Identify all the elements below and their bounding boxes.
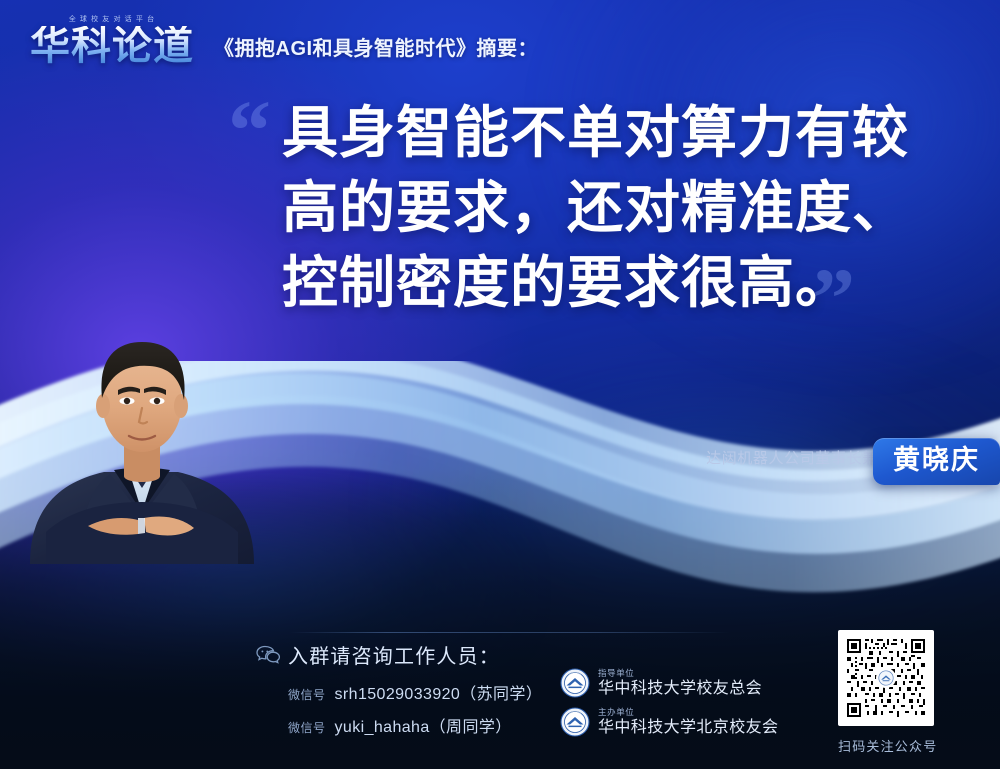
wechat-id[interactable]: srh15029033920（苏同学） (335, 680, 543, 704)
qr-center-logo (876, 668, 896, 688)
organization-text: 主办单位 华中科技大学北京校友会 (598, 708, 778, 736)
footer-divider (290, 632, 730, 633)
organization-name: 华中科技大学校友总会 (598, 681, 762, 697)
quote-close-mark: ” (812, 264, 855, 333)
speaker-name-badge: 黄晓庆 (873, 438, 1000, 485)
wechat-label: 微信号 (288, 686, 326, 703)
organizations-block: 指导单位 华中科技大学校友总会 主办单位 华中科技大学北京校友会 (560, 668, 778, 746)
header: 全球校友对话平台 华科论道 《拥抱AGI和具身智能时代》摘要： (28, 14, 538, 66)
organization-kind: 主办单位 (598, 708, 778, 717)
organization-kind: 指导单位 (598, 669, 762, 678)
logo-wordmark: 华科论道 (28, 26, 196, 66)
quote-open-mark: “ (228, 96, 271, 165)
university-emblem-icon (560, 668, 590, 698)
qr-caption: 扫码关注公众号 (838, 736, 937, 755)
quote-line: 高的要求，还对精准度、 (282, 171, 962, 246)
university-emblem-icon (560, 707, 590, 737)
organization-row: 指导单位 华中科技大学校友总会 (560, 668, 778, 698)
organization-text: 指导单位 华中科技大学校友总会 (598, 669, 762, 697)
quote-line: 控制密度的要求很高。 (282, 246, 962, 321)
qr-code-icon[interactable] (838, 630, 934, 726)
wechat-id[interactable]: yuki_hahaha（周同学） (335, 713, 512, 737)
poster-root: 全球校友对话平台 华科论道 《拥抱AGI和具身智能时代》摘要： “ 具身智能不单… (0, 0, 1000, 769)
page-title: 《拥抱AGI和具身智能时代》摘要： (214, 32, 538, 66)
contact-row: 微信号 srh15029033920（苏同学） (288, 680, 542, 704)
wechat-bubbles-icon (256, 645, 282, 665)
brand-logo[interactable]: 全球校友对话平台 华科论道 (28, 14, 196, 66)
qr-block: 扫码关注公众号 (838, 630, 937, 755)
contact-row: 微信号 yuki_hahaha（周同学） (288, 713, 542, 737)
footer-heading: 入群请咨询工作人员： (288, 640, 542, 669)
footer-contact-block: 入群请咨询工作人员： 微信号 srh15029033920（苏同学） 微信号 y… (288, 640, 542, 746)
organization-row: 主办单位 华中科技大学北京校友会 (560, 707, 778, 737)
quote-line: 具身智能不单对算力有较 (282, 96, 962, 171)
wechat-label: 微信号 (288, 719, 326, 736)
speaker-portrait (18, 296, 264, 564)
organization-name: 华中科技大学北京校友会 (598, 720, 778, 736)
quote-text: 具身智能不单对算力有较 高的要求，还对精准度、 控制密度的要求很高。 (282, 96, 962, 321)
